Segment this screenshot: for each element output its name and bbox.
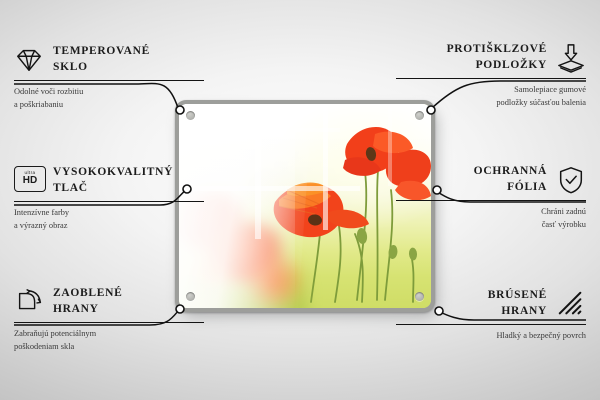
divider bbox=[396, 200, 586, 202]
diamond-icon bbox=[14, 45, 44, 75]
feature-polished-edges: BRÚSENÉ HRANY Hladký a bezpečný povrch bbox=[396, 288, 586, 343]
feature-description: Zabraňujú potenciálnym poškodeniam skla bbox=[14, 328, 204, 352]
feature-title: OCHRANNÁ FÓLIA bbox=[474, 164, 547, 196]
feature-title-line2: SKLO bbox=[53, 60, 150, 76]
feature-title-line2: HRANY bbox=[488, 304, 547, 320]
feature-header: ultra HD VYSOKOKVALITNÝ TLAČ bbox=[14, 165, 204, 197]
feature-title-line2: HRANY bbox=[53, 302, 123, 318]
feature-desc-line1: Odolné voči rozbitiu bbox=[14, 87, 83, 96]
feature-rounded-edges: ZAOBLENÉ HRANY Zabraňujú potenciálnym po… bbox=[14, 286, 204, 353]
feature-description: Intenzívne farby a výrazný obraz bbox=[14, 207, 204, 231]
feature-title: BRÚSENÉ HRANY bbox=[488, 288, 547, 320]
feature-title-line1: BRÚSENÉ bbox=[488, 289, 547, 301]
feature-desc-line2: a výrazný obraz bbox=[14, 221, 67, 230]
divider bbox=[396, 78, 586, 80]
anti-slip-pad-icon bbox=[556, 43, 586, 73]
feature-header: BRÚSENÉ HRANY bbox=[396, 288, 586, 320]
mounting-hole bbox=[186, 111, 195, 120]
feature-title-line1: ZAOBLENÉ bbox=[53, 287, 123, 299]
feature-title-line2: TLAČ bbox=[53, 181, 173, 197]
feature-title: TEMPEROVANÉ SKLO bbox=[53, 44, 150, 76]
feature-desc-line2: časť výrobku bbox=[542, 220, 586, 229]
feature-desc-line1: Intenzívne farby bbox=[14, 208, 69, 217]
mounting-hole bbox=[415, 111, 424, 120]
ultra-hd-icon: ultra HD bbox=[14, 166, 44, 196]
poppy-photo bbox=[179, 104, 431, 308]
divider bbox=[14, 201, 204, 203]
divider bbox=[14, 322, 204, 324]
feature-title: PROTIŠKLZOVÉ PODLOŽKY bbox=[447, 42, 547, 74]
feature-desc-line1: Hladký a bezpečný povrch bbox=[496, 331, 586, 340]
feature-description: Samolepiace gumové podložky súčasťou bal… bbox=[396, 84, 586, 108]
feature-description: Chráni zadnú časť výrobku bbox=[396, 206, 586, 230]
feature-title: VYSOKOKVALITNÝ TLAČ bbox=[53, 165, 173, 197]
divider bbox=[396, 324, 586, 326]
feature-header: OCHRANNÁ FÓLIA bbox=[396, 164, 586, 196]
feature-desc-line2: podložky súčasťou balenia bbox=[496, 98, 586, 107]
rounded-corner-icon bbox=[14, 287, 44, 317]
glass-print-area bbox=[179, 104, 431, 308]
feature-title-line1: OCHRANNÁ bbox=[474, 165, 547, 177]
feature-title-line1: PROTIŠKLZOVÉ bbox=[447, 43, 547, 55]
divider bbox=[14, 80, 204, 82]
feature-description: Odolné voči rozbitiu a poškriabaniu bbox=[14, 86, 204, 110]
feature-protective-film: OCHRANNÁ FÓLIA Chráni zadnú časť výrobku bbox=[396, 164, 586, 231]
feature-title-line2: PODLOŽKY bbox=[447, 58, 547, 74]
feature-high-quality-print: ultra HD VYSOKOKVALITNÝ TLAČ Intenzívne … bbox=[14, 165, 204, 232]
feature-desc-line1: Samolepiace gumové bbox=[514, 85, 586, 94]
infographic-page: TEMPEROVANÉ SKLO Odolné voči rozbitiu a … bbox=[0, 0, 600, 400]
feature-title-line1: TEMPEROVANÉ bbox=[53, 45, 150, 57]
feature-header: ZAOBLENÉ HRANY bbox=[14, 286, 204, 318]
feature-desc-line2: poškodeniam skla bbox=[14, 342, 74, 351]
feature-title: ZAOBLENÉ HRANY bbox=[53, 286, 123, 318]
feature-desc-line2: a poškriabaniu bbox=[14, 100, 63, 109]
feature-title-line1: VYSOKOKVALITNÝ bbox=[53, 166, 173, 178]
brushed-edge-icon bbox=[556, 289, 586, 319]
feature-desc-line1: Chráni zadnú bbox=[541, 207, 586, 216]
feature-title-line2: FÓLIA bbox=[474, 180, 547, 196]
feature-tempered-glass: TEMPEROVANÉ SKLO Odolné voči rozbitiu a … bbox=[14, 44, 204, 111]
feature-header: TEMPEROVANÉ SKLO bbox=[14, 44, 204, 76]
feature-header: PROTIŠKLZOVÉ PODLOŽKY bbox=[396, 42, 586, 74]
feature-anti-slip-pads: PROTIŠKLZOVÉ PODLOŽKY Samolepiace gumové… bbox=[396, 42, 586, 109]
feature-desc-line1: Zabraňujú potenciálnym bbox=[14, 329, 96, 338]
feature-description: Hladký a bezpečný povrch bbox=[396, 330, 586, 342]
shield-check-icon bbox=[556, 165, 586, 195]
